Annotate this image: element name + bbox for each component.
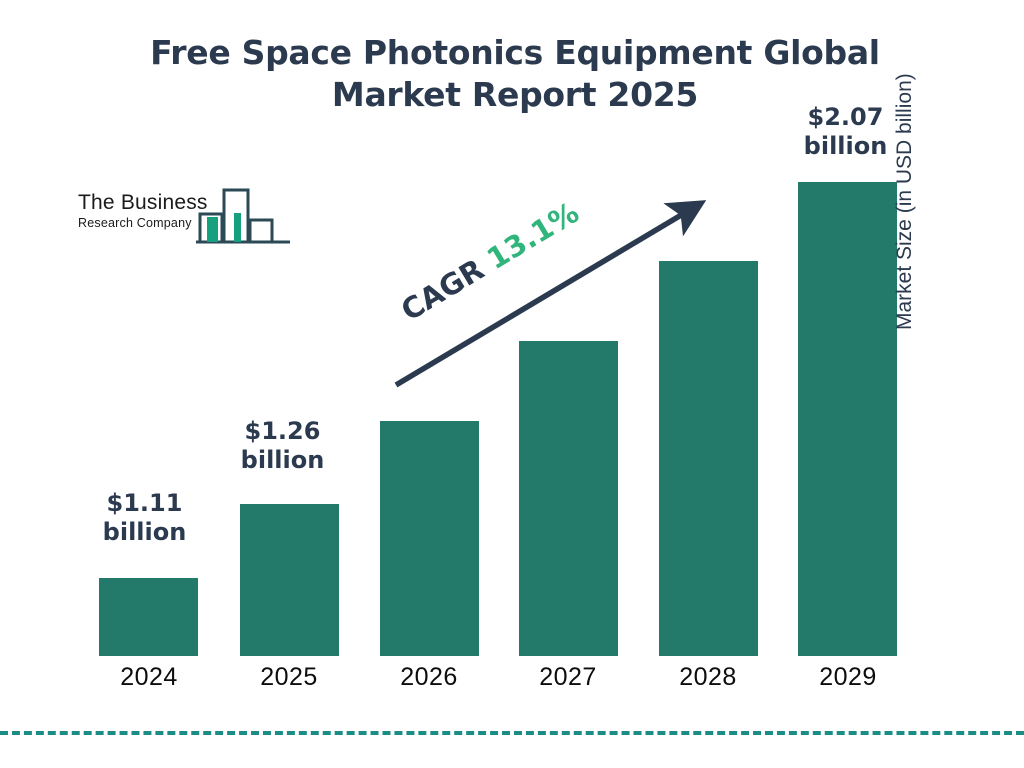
bar-2029[interactable] bbox=[798, 182, 897, 656]
bar-2024[interactable] bbox=[99, 578, 198, 656]
xtick-2026: 2026 bbox=[364, 663, 494, 692]
bar-2028[interactable] bbox=[659, 261, 758, 656]
bar-2027[interactable] bbox=[519, 341, 618, 656]
cagr-label: CAGR bbox=[395, 252, 490, 327]
xtick-2024: 2024 bbox=[84, 663, 214, 692]
cagr-annotation: CAGR 13.1% bbox=[395, 195, 584, 327]
cagr-value: 13.1% bbox=[481, 195, 585, 276]
bar-2026[interactable] bbox=[380, 421, 479, 656]
bar-2025[interactable] bbox=[240, 504, 339, 656]
y-axis-title: Market Size (in USD billion) bbox=[893, 0, 917, 330]
xtick-2025: 2025 bbox=[224, 663, 354, 692]
plot-area: $2.07 billion $1.26 billion $1.11 billio… bbox=[0, 0, 1024, 768]
footer-divider bbox=[0, 731, 1024, 735]
xtick-2027: 2027 bbox=[503, 663, 633, 692]
bar-value-label-2024: $1.11 billion bbox=[77, 489, 212, 548]
xtick-2028: 2028 bbox=[643, 663, 773, 692]
chart-canvas: Free Space Photonics Equipment Global Ma… bbox=[0, 0, 1024, 768]
xtick-2029: 2029 bbox=[783, 663, 913, 692]
bar-value-label-2025: $1.26 billion bbox=[215, 417, 350, 476]
